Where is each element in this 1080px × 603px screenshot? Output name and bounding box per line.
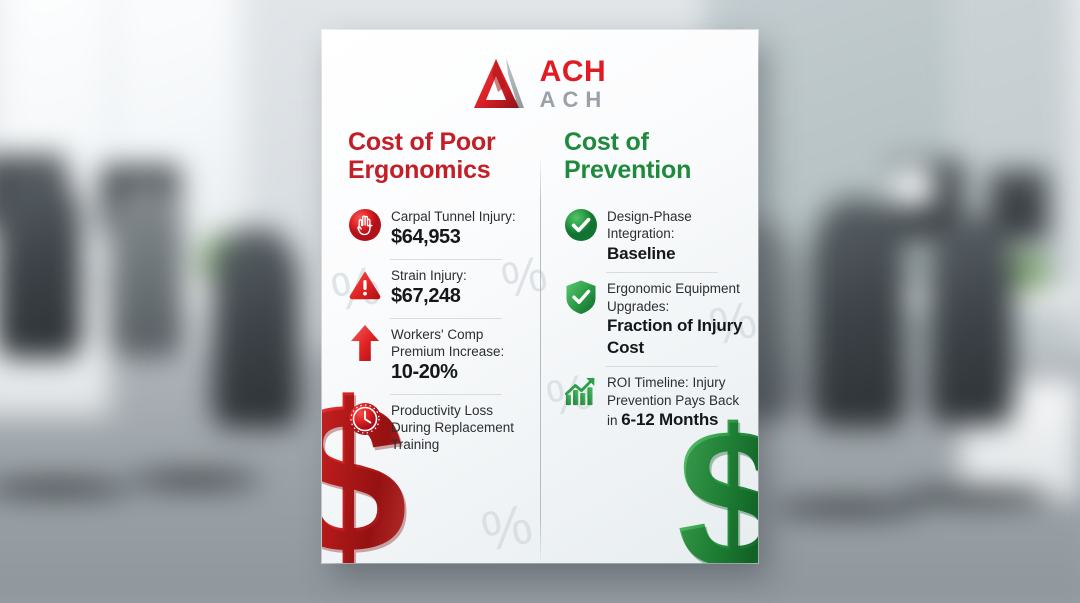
list-item-label: Design-Phase Integration: [607, 209, 692, 241]
list-item-text: Design-Phase Integration: Baseline [607, 207, 744, 264]
list-item-text: Productivity Loss During Replacement Tra… [391, 401, 528, 454]
list-item[interactable]: ROI Timeline: Injury Prevention Pays Bac… [564, 366, 744, 438]
list-item[interactable]: Productivity Loss During Replacement Tra… [348, 394, 528, 462]
brand-logo: ACH ACH [322, 56, 758, 112]
background-chair-6 [928, 215, 1014, 425]
list-item-value: Baseline [607, 243, 744, 265]
background-chair-base-2 [130, 472, 260, 488]
ach-triangle-logo-icon [472, 56, 530, 112]
infographic-poster: % % % % % $ $ ACH [322, 30, 758, 563]
list-item-text: ROI Timeline: Injury Prevention Pays Bac… [607, 373, 744, 430]
list-item[interactable]: Carpal Tunnel Injury: $64,953 [348, 200, 528, 259]
column-title-right: Cost of Prevention [564, 128, 744, 184]
background-chair-1 [0, 168, 82, 358]
list-item-value: $67,248 [391, 284, 467, 310]
background-chair-base-3 [772, 500, 922, 516]
brand-logo-text: ACH ACH [540, 57, 609, 111]
brand-name-secondary: ACH [540, 89, 609, 111]
list-item-text: Strain Injury: $67,248 [391, 266, 467, 310]
list-item-text: Workers' Comp Premium Increase: 10-20% [391, 325, 528, 386]
list-item-value: 6-12 Months [621, 410, 718, 429]
list-item-value: $64,953 [391, 225, 516, 251]
column-title-left: Cost of Poor Ergonomics [348, 128, 528, 184]
background-chair-3 [212, 228, 300, 428]
background-chair-base-4 [900, 488, 1050, 504]
background-chair-5 [810, 198, 906, 428]
hand-injury-icon [348, 208, 382, 242]
list-item-label: Workers' Comp Premium Increase: [391, 327, 504, 359]
brand-name-primary: ACH [540, 57, 609, 87]
column-divider [540, 156, 541, 563]
background-chair-2 [108, 182, 184, 357]
column-cost-of-prevention: Cost of Prevention Design-Phase Int [542, 128, 758, 545]
column-cost-of-poor-ergonomics: Cost of Poor Ergonomics [322, 128, 542, 545]
background-desk-lamp [890, 165, 936, 207]
list-item-text: Carpal Tunnel Injury: $64,953 [391, 207, 516, 251]
list-item-label: Strain Injury: [391, 268, 467, 283]
list-item-label: Productivity Loss During Replacement Tra… [391, 403, 514, 453]
prevention-items-list: Design-Phase Integration: Baseline [564, 200, 744, 439]
list-item-label: Carpal Tunnel Injury: [391, 209, 516, 224]
list-item[interactable]: Ergonomic Equipment Upgrades: Fraction o… [564, 272, 744, 366]
list-item-value: Fraction of Injury Cost [607, 315, 744, 359]
list-item[interactable]: Workers' Comp Premium Increase: 10-20% [348, 318, 528, 394]
background-plant-2 [1008, 250, 1048, 294]
list-item[interactable]: Strain Injury: $67,248 [348, 259, 528, 318]
comparison-columns: Cost of Poor Ergonomics [322, 128, 758, 545]
list-item-text: Ergonomic Equipment Upgrades: Fraction o… [607, 279, 744, 358]
shield-check-icon [564, 280, 598, 314]
growth-chart-icon [564, 374, 598, 408]
check-circle-icon [564, 208, 598, 242]
cost-items-list: Carpal Tunnel Injury: $64,953 [348, 200, 528, 462]
list-item-label: Ergonomic Equipment Upgrades: [607, 281, 740, 313]
clock-icon [348, 402, 382, 436]
warning-triangle-icon [348, 267, 382, 301]
list-item-value: 10-20% [391, 360, 528, 386]
up-arrow-icon [348, 326, 382, 360]
list-item[interactable]: Design-Phase Integration: Baseline [564, 200, 744, 272]
